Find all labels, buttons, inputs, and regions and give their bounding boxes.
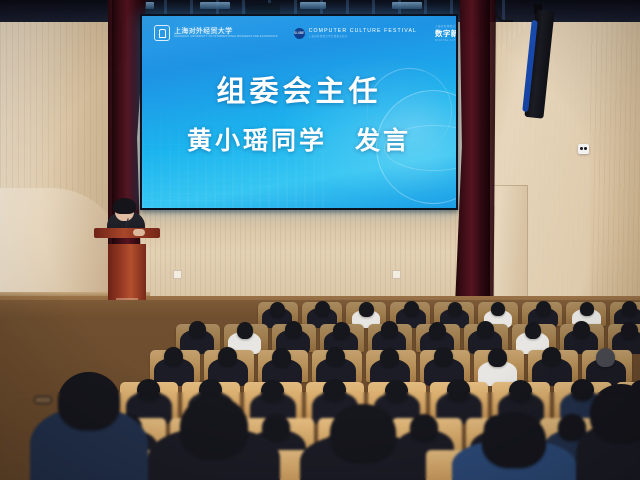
audience-head xyxy=(262,414,290,441)
audience-head xyxy=(488,348,507,367)
festival-logo: SUIBE COMPUTER CULTURE FESTIVAL 上海对外经贸大学… xyxy=(294,28,417,39)
university-name-en: SHANGHAI UNIVERSITY OF INTERNATIONAL BUS… xyxy=(174,35,278,38)
audience-head xyxy=(573,321,590,338)
audience-head xyxy=(434,347,453,366)
audience-head xyxy=(330,404,396,462)
program-name-en: DIGITAL LITERACY xyxy=(435,39,458,42)
audience-head xyxy=(542,347,561,366)
audience-head xyxy=(323,379,346,401)
slide-logo-bar: 上海对外经贸大学 SHANGHAI UNIVERSITY OF INTERNAT… xyxy=(142,20,456,46)
audience-head xyxy=(622,301,637,316)
eyeglasses-icon xyxy=(34,396,52,404)
audience-head xyxy=(359,302,374,317)
wall-mounted-camera xyxy=(578,144,589,154)
audience-head xyxy=(509,380,532,402)
university-shield-icon xyxy=(154,25,170,41)
wall-outlet-left xyxy=(173,270,182,279)
presenter-hand xyxy=(133,229,145,236)
wall-outlet-right xyxy=(392,270,401,279)
audience-head xyxy=(58,372,120,430)
audience-head xyxy=(429,322,446,339)
audience-head xyxy=(164,347,183,366)
ceiling-light-fixture xyxy=(392,2,422,9)
audience-head xyxy=(525,322,541,339)
audience-head xyxy=(491,302,505,316)
ceiling-cable xyxy=(495,4,513,22)
audience-head xyxy=(590,384,640,442)
audience-head xyxy=(448,302,462,316)
slide-subtitle: 黄小瑶同学 发言 xyxy=(142,126,456,156)
audience-head xyxy=(180,396,248,458)
audience-head xyxy=(404,301,419,316)
audience-head xyxy=(447,379,470,401)
slide-title: 组委会主任 xyxy=(142,74,456,108)
audience-head xyxy=(596,348,615,367)
festival-badge-icon: SUIBE xyxy=(294,28,305,39)
audience-head xyxy=(315,301,330,316)
back-wall-below-screen xyxy=(120,206,495,310)
audience-head xyxy=(272,348,291,367)
audience-head xyxy=(326,347,345,366)
projection-screen: 上海对外经贸大学 SHANGHAI UNIVERSITY OF INTERNAT… xyxy=(140,14,458,210)
program-name-cn: 数字新青年 xyxy=(435,28,458,39)
audience-head xyxy=(482,412,546,468)
audience-head xyxy=(237,322,253,339)
audience-head xyxy=(621,322,638,339)
program-logo: 上海对外经贸大学 数字新青年 DIGITAL LITERACY xyxy=(435,24,458,42)
lectern-top xyxy=(94,228,160,238)
audience-head xyxy=(137,379,160,401)
university-logo: 上海对外经贸大学 SHANGHAI UNIVERSITY OF INTERNAT… xyxy=(154,25,278,41)
audience-head xyxy=(189,321,206,338)
audience-head xyxy=(580,302,594,316)
audience-head xyxy=(571,379,594,401)
audience-head xyxy=(333,322,350,339)
ceiling-light-fixture xyxy=(200,2,230,9)
presenter-hair xyxy=(113,198,136,214)
audience-head xyxy=(536,301,551,316)
audience-head xyxy=(410,414,438,441)
ceiling-light-fixture xyxy=(300,2,326,9)
audience-head xyxy=(270,302,285,317)
auditorium-photo: 上海对外经贸大学 SHANGHAI UNIVERSITY OF INTERNAT… xyxy=(0,0,640,480)
audience-seating-area xyxy=(0,300,640,480)
audience-head xyxy=(477,321,494,338)
audience-head xyxy=(218,347,237,366)
audience-head xyxy=(381,321,398,338)
audience-head xyxy=(380,348,399,367)
festival-name-sub: 上海对外经贸大学计算机文化节 xyxy=(309,34,417,38)
audience-head xyxy=(285,321,302,338)
audience-head xyxy=(261,380,284,402)
audience-head xyxy=(385,380,408,402)
